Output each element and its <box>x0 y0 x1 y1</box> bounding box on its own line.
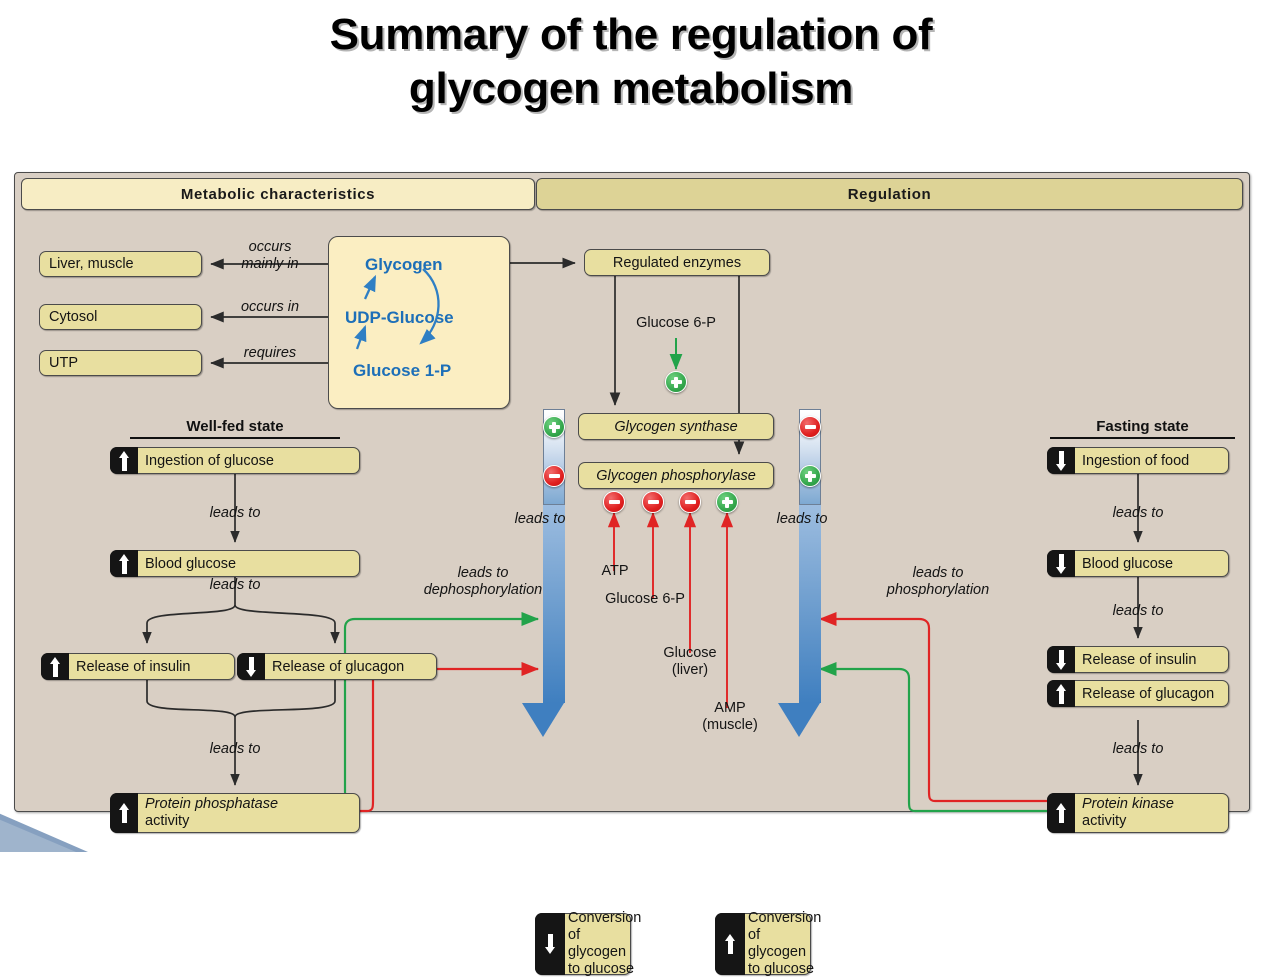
box-liver-muscle: Liver, muscle <box>39 251 202 277</box>
label-atp: ATP <box>575 563 655 580</box>
label-glucose-6p-activator: Glucose 6-P <box>616 315 736 332</box>
fasting-connector-1: leads to <box>1088 505 1188 522</box>
arrow-down-indicator <box>1047 646 1075 673</box>
fasting-connector-2: leads to <box>1088 603 1188 620</box>
wellfed-connector-2: leads to <box>185 577 285 594</box>
page-title: Summary of the regulation of glycogen me… <box>0 8 1262 116</box>
arrow-up-indicator <box>110 447 138 474</box>
fasting-step-blood-glucose: Blood glucose <box>1047 550 1229 577</box>
badge-activate-amp-muscle <box>716 491 738 513</box>
arrow-down-indicator <box>1047 447 1075 474</box>
wellfed-protein-phosphatase-text: Protein phosphatase activity <box>145 796 278 829</box>
figure-frame: Metabolic characteristics Regulation Liv… <box>14 172 1250 812</box>
box-glycogen-phosphorylase: Glycogen phosphorylase <box>578 462 774 489</box>
badge-right-activate-phosphorylase <box>799 465 821 487</box>
badge-inhibit-atp <box>603 491 625 513</box>
relation-label-occurs-in: occurs in <box>215 299 325 316</box>
header-regulation: Regulation <box>536 178 1243 210</box>
label-leads-to-right: leads to <box>757 511 847 528</box>
label-glucose-6p: Glucose 6-P <box>580 591 710 608</box>
box-cytosol: Cytosol <box>39 304 202 330</box>
box-conversion-decrease: Conversion of glycogen to glucose <box>535 913 631 975</box>
wellfed-step-release-of-insulin: Release of insulin <box>41 653 235 680</box>
right-regulation-shaft <box>799 505 821 703</box>
wellfed-connector-3: leads to <box>185 741 285 758</box>
left-regulation-shaft <box>543 505 565 703</box>
arrow-up-indicator <box>1047 793 1075 833</box>
label-leads-to-dephosphorylation: leads to dephosphorylation <box>388 565 578 598</box>
label-leads-to-phosphorylation: leads to phosphorylation <box>843 565 1033 598</box>
fasting-step-release-of-insulin: Release of insulin <box>1047 646 1229 673</box>
box-utp: UTP <box>39 350 202 376</box>
arrow-up-indicator <box>1047 680 1075 707</box>
glycogen-cycle-box: Glycogen UDP-Glucose Glucose 1-P <box>328 236 510 409</box>
left-regulation-arrowhead <box>522 703 564 737</box>
arrow-down-indicator <box>1047 550 1075 577</box>
arrow-up-indicator <box>110 793 138 833</box>
badge-left-inhibit-phosphorylase <box>543 465 565 487</box>
label-amp-muscle: AMP (muscle) <box>675 700 785 734</box>
badge-inhibit-glucose-liver <box>679 491 701 513</box>
conversion-left-text: Conversion of glycogen to glucose <box>568 910 641 977</box>
arrow-down-indicator <box>237 653 265 680</box>
badge-activate-glucose-6p <box>665 371 687 393</box>
fasting-connector-3: leads to <box>1088 741 1188 758</box>
wellfed-step-release-of-glucagon: Release of glucagon <box>237 653 437 680</box>
wellfed-step-protein-phosphatase-activity: Protein phosphatase activity <box>110 793 360 833</box>
wellfed-step-ingestion-of-glucose: Ingestion of glucose <box>110 447 360 474</box>
badge-left-activate-synthase <box>543 416 565 438</box>
arrow-up-indicator <box>715 913 745 975</box>
conversion-right-text: Conversion of glycogen to glucose <box>748 910 821 977</box>
header-well-fed-state: Well-fed state <box>130 418 340 439</box>
box-conversion-increase: Conversion of glycogen to glucose <box>715 913 811 975</box>
fasting-step-protein-kinase-activity: Protein kinase activity <box>1047 793 1229 833</box>
header-fasting-state: Fasting state <box>1050 418 1235 439</box>
arrow-down-indicator <box>535 913 565 975</box>
page-title-line-2: glycogen metabolism <box>0 62 1262 116</box>
fasting-protein-kinase-text: Protein kinase activity <box>1082 796 1174 829</box>
arrow-up-indicator <box>110 550 138 577</box>
relation-label-requires: requires <box>215 345 325 362</box>
page-title-line-1: Summary of the regulation of <box>0 8 1262 62</box>
wellfed-connector-1: leads to <box>185 505 285 522</box>
fasting-step-ingestion-of-food: Ingestion of food <box>1047 447 1229 474</box>
wellfed-step-blood-glucose: Blood glucose <box>110 550 360 577</box>
cycle-arrows-icon <box>329 237 511 410</box>
badge-inhibit-glucose-6p <box>642 491 664 513</box>
label-glucose-liver: Glucose (liver) <box>635 645 745 679</box>
box-glycogen-synthase: Glycogen synthase <box>578 413 774 440</box>
arrow-up-indicator <box>41 653 69 680</box>
header-metabolic-characteristics: Metabolic characteristics <box>21 178 535 210</box>
box-regulated-enzymes: Regulated enzymes <box>584 249 770 276</box>
label-leads-to-left: leads to <box>495 511 585 528</box>
relation-label-occurs-mainly-in: occurs mainly in <box>215 239 325 272</box>
fasting-step-release-of-glucagon: Release of glucagon <box>1047 680 1229 707</box>
badge-right-inhibit-synthase <box>799 416 821 438</box>
